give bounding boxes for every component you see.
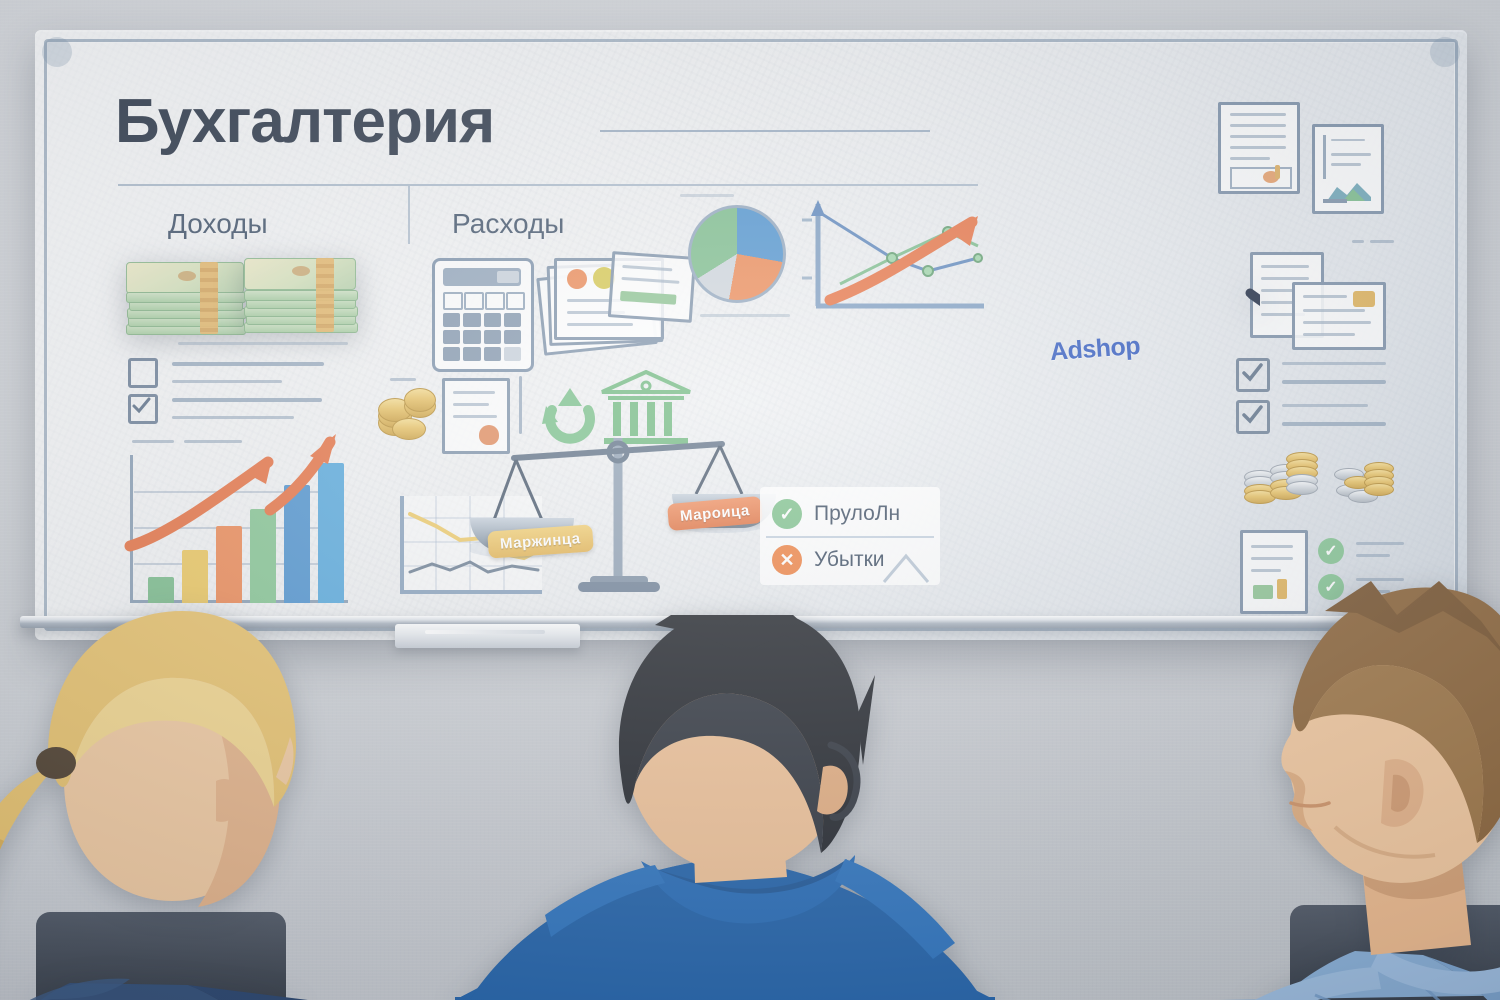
text-line [1282, 362, 1386, 365]
banknote-stack-icon [126, 262, 244, 334]
student-center[interactable] [455, 615, 995, 1000]
text-line [184, 440, 242, 443]
column-header-income: Доходы [168, 208, 268, 240]
student-right[interactable] [1185, 575, 1500, 1000]
chart-document-icon [1312, 124, 1384, 214]
text-line [1370, 240, 1394, 243]
text-line [1352, 240, 1364, 243]
text-line [1356, 542, 1404, 545]
coin-cluster-icon-2 [1334, 458, 1396, 506]
banknote-stack-icon-2 [244, 258, 356, 332]
presentation-scene: Бухгалтерия Доходы Расходы [0, 0, 1500, 1000]
text-line [178, 342, 348, 345]
column-header-expenses: Расходы [452, 208, 564, 240]
text-line [390, 378, 416, 381]
student-left[interactable] [0, 585, 340, 1000]
text-line [172, 362, 324, 366]
text-line [1282, 380, 1386, 384]
check-circle-icon: ✓ [1318, 538, 1344, 564]
text-line [172, 398, 322, 402]
column-divider [408, 186, 410, 244]
calculator-icon [432, 258, 534, 372]
shirt-logo-text: Adshop [1049, 332, 1141, 366]
text-line [132, 440, 174, 443]
text-line [1356, 554, 1390, 557]
page-title: Бухгалтерия [115, 86, 494, 157]
card-icon [1292, 282, 1386, 350]
text-line [1282, 404, 1368, 407]
checkbox-icon[interactable] [128, 358, 158, 388]
text-line [1282, 422, 1386, 426]
coin-stack-icon [378, 388, 436, 436]
text-line [172, 380, 282, 383]
